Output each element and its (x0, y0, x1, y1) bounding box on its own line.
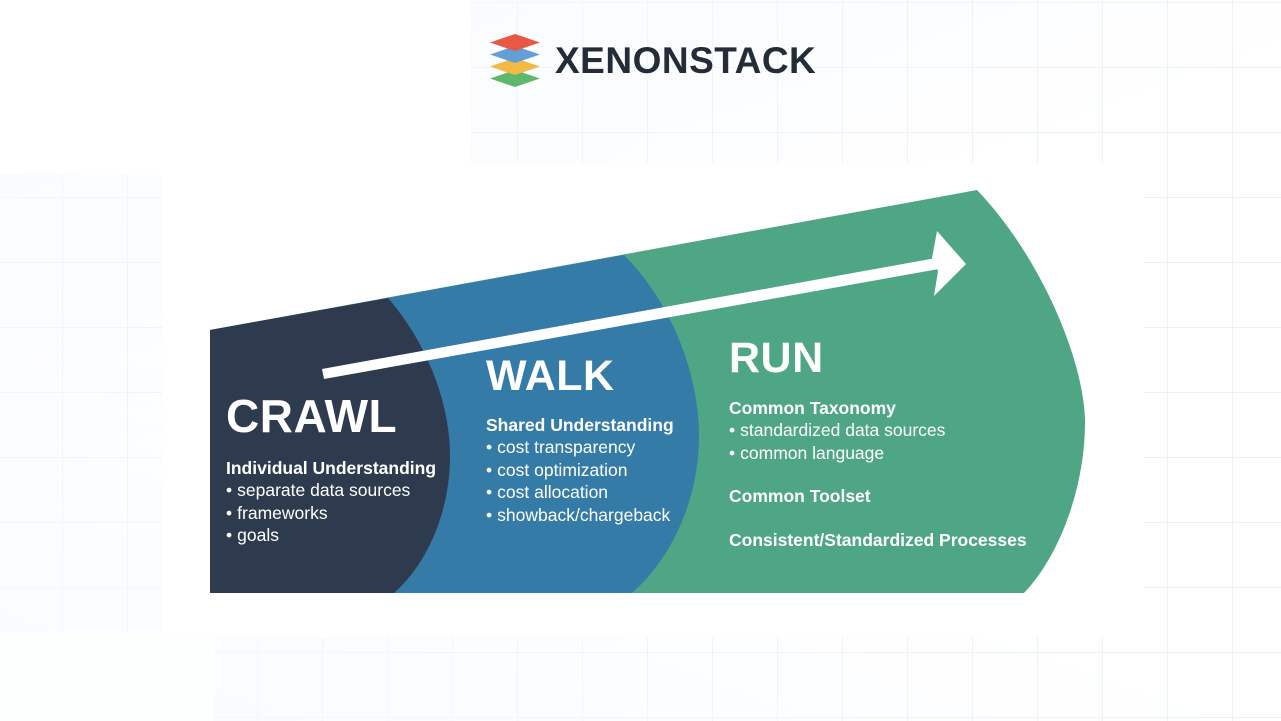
list-item: cost optimization (486, 459, 701, 481)
stage-subheading-run: Common Taxonomy (729, 397, 1059, 419)
background-mask-top-left (0, 0, 470, 175)
list-item: standardized data sources (729, 419, 1059, 441)
stage-title-run: RUN (729, 337, 1059, 380)
stacked-layers-icon (489, 33, 541, 88)
spacer (729, 464, 1059, 485)
stage-subheading-walk: Shared Understanding (486, 414, 701, 436)
list-item: frameworks (226, 502, 476, 524)
stage-group-consistent-processes: Consistent/Standardized Processes (729, 529, 1059, 551)
stage-title-crawl: CRAWL (226, 393, 476, 439)
spacer (729, 508, 1059, 529)
list-item: cost allocation (486, 481, 701, 503)
stage-content-run: RUN Common Taxonomy standardized data so… (729, 337, 1059, 551)
brand-logo[interactable]: XENONSTACK (489, 33, 816, 88)
stage-subheading-crawl: Individual Understanding (226, 457, 476, 479)
list-item: common language (729, 442, 1059, 464)
list-item: goals (226, 524, 476, 546)
stage-group-common-toolset: Common Toolset (729, 485, 1059, 507)
stage-title-walk: WALK (486, 355, 701, 398)
stage-content-walk: WALK Shared Understanding cost transpare… (486, 355, 701, 526)
stage-list-run: standardized data sources common languag… (729, 419, 1059, 464)
background-mask-bottom-left (0, 632, 215, 721)
brand-name: XENONSTACK (555, 42, 816, 79)
list-item: showback/chargeback (486, 504, 701, 526)
list-item: cost transparency (486, 436, 701, 458)
stage-list-crawl: separate data sources frameworks goals (226, 479, 476, 546)
list-item: separate data sources (226, 479, 476, 501)
stage-content-crawl: CRAWL Individual Understanding separate … (226, 393, 476, 547)
stage-list-walk: cost transparency cost optimization cost… (486, 436, 701, 526)
